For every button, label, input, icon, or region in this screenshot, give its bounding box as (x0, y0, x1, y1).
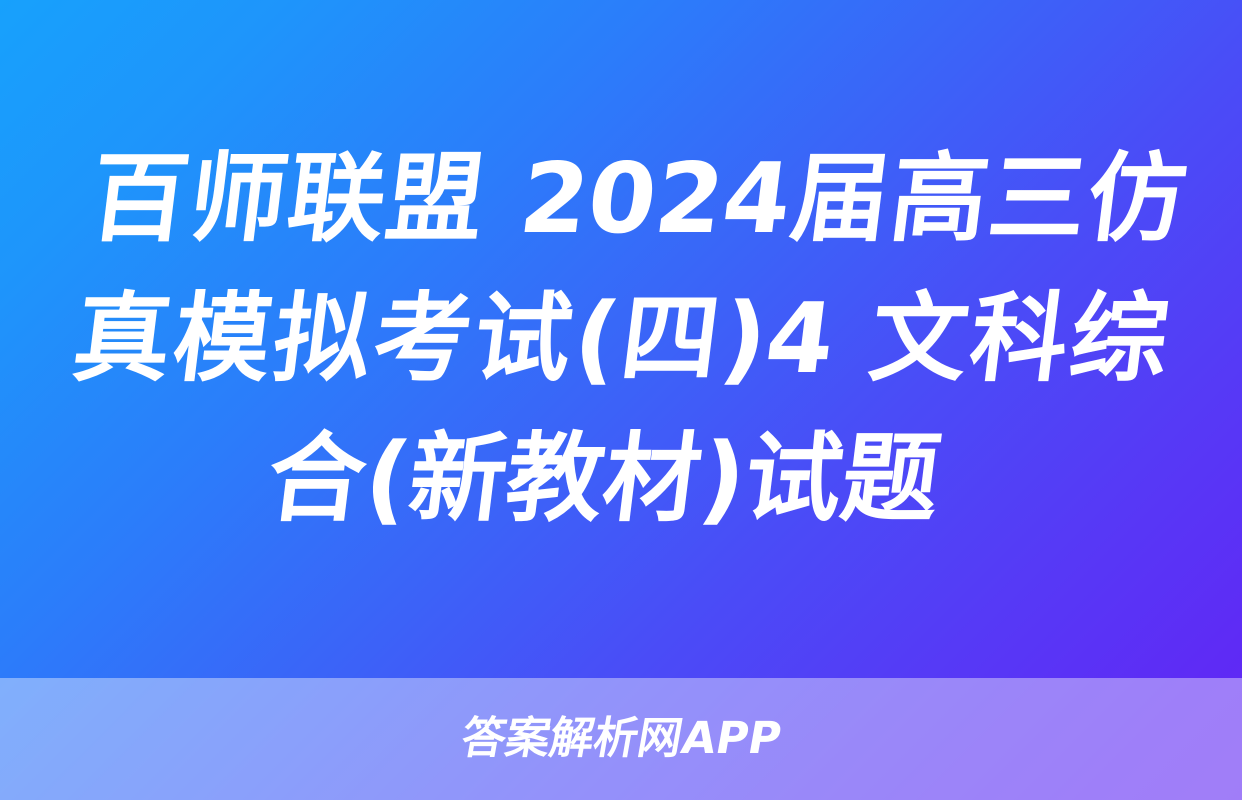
poster-card: 百师联盟 2024届高三仿真模拟考试(四)4 文科综合(新教材)试题 答案解析网… (0, 0, 1242, 800)
title-area: 百师联盟 2024届高三仿真模拟考试(四)4 文科综合(新教材)试题 (0, 0, 1242, 678)
page-title: 百师联盟 2024届高三仿真模拟考试(四)4 文科综合(新教材)试题 (48, 129, 1194, 549)
watermark-band: 答案解析网APP (0, 678, 1242, 800)
watermark-label: 答案解析网APP (458, 717, 784, 761)
